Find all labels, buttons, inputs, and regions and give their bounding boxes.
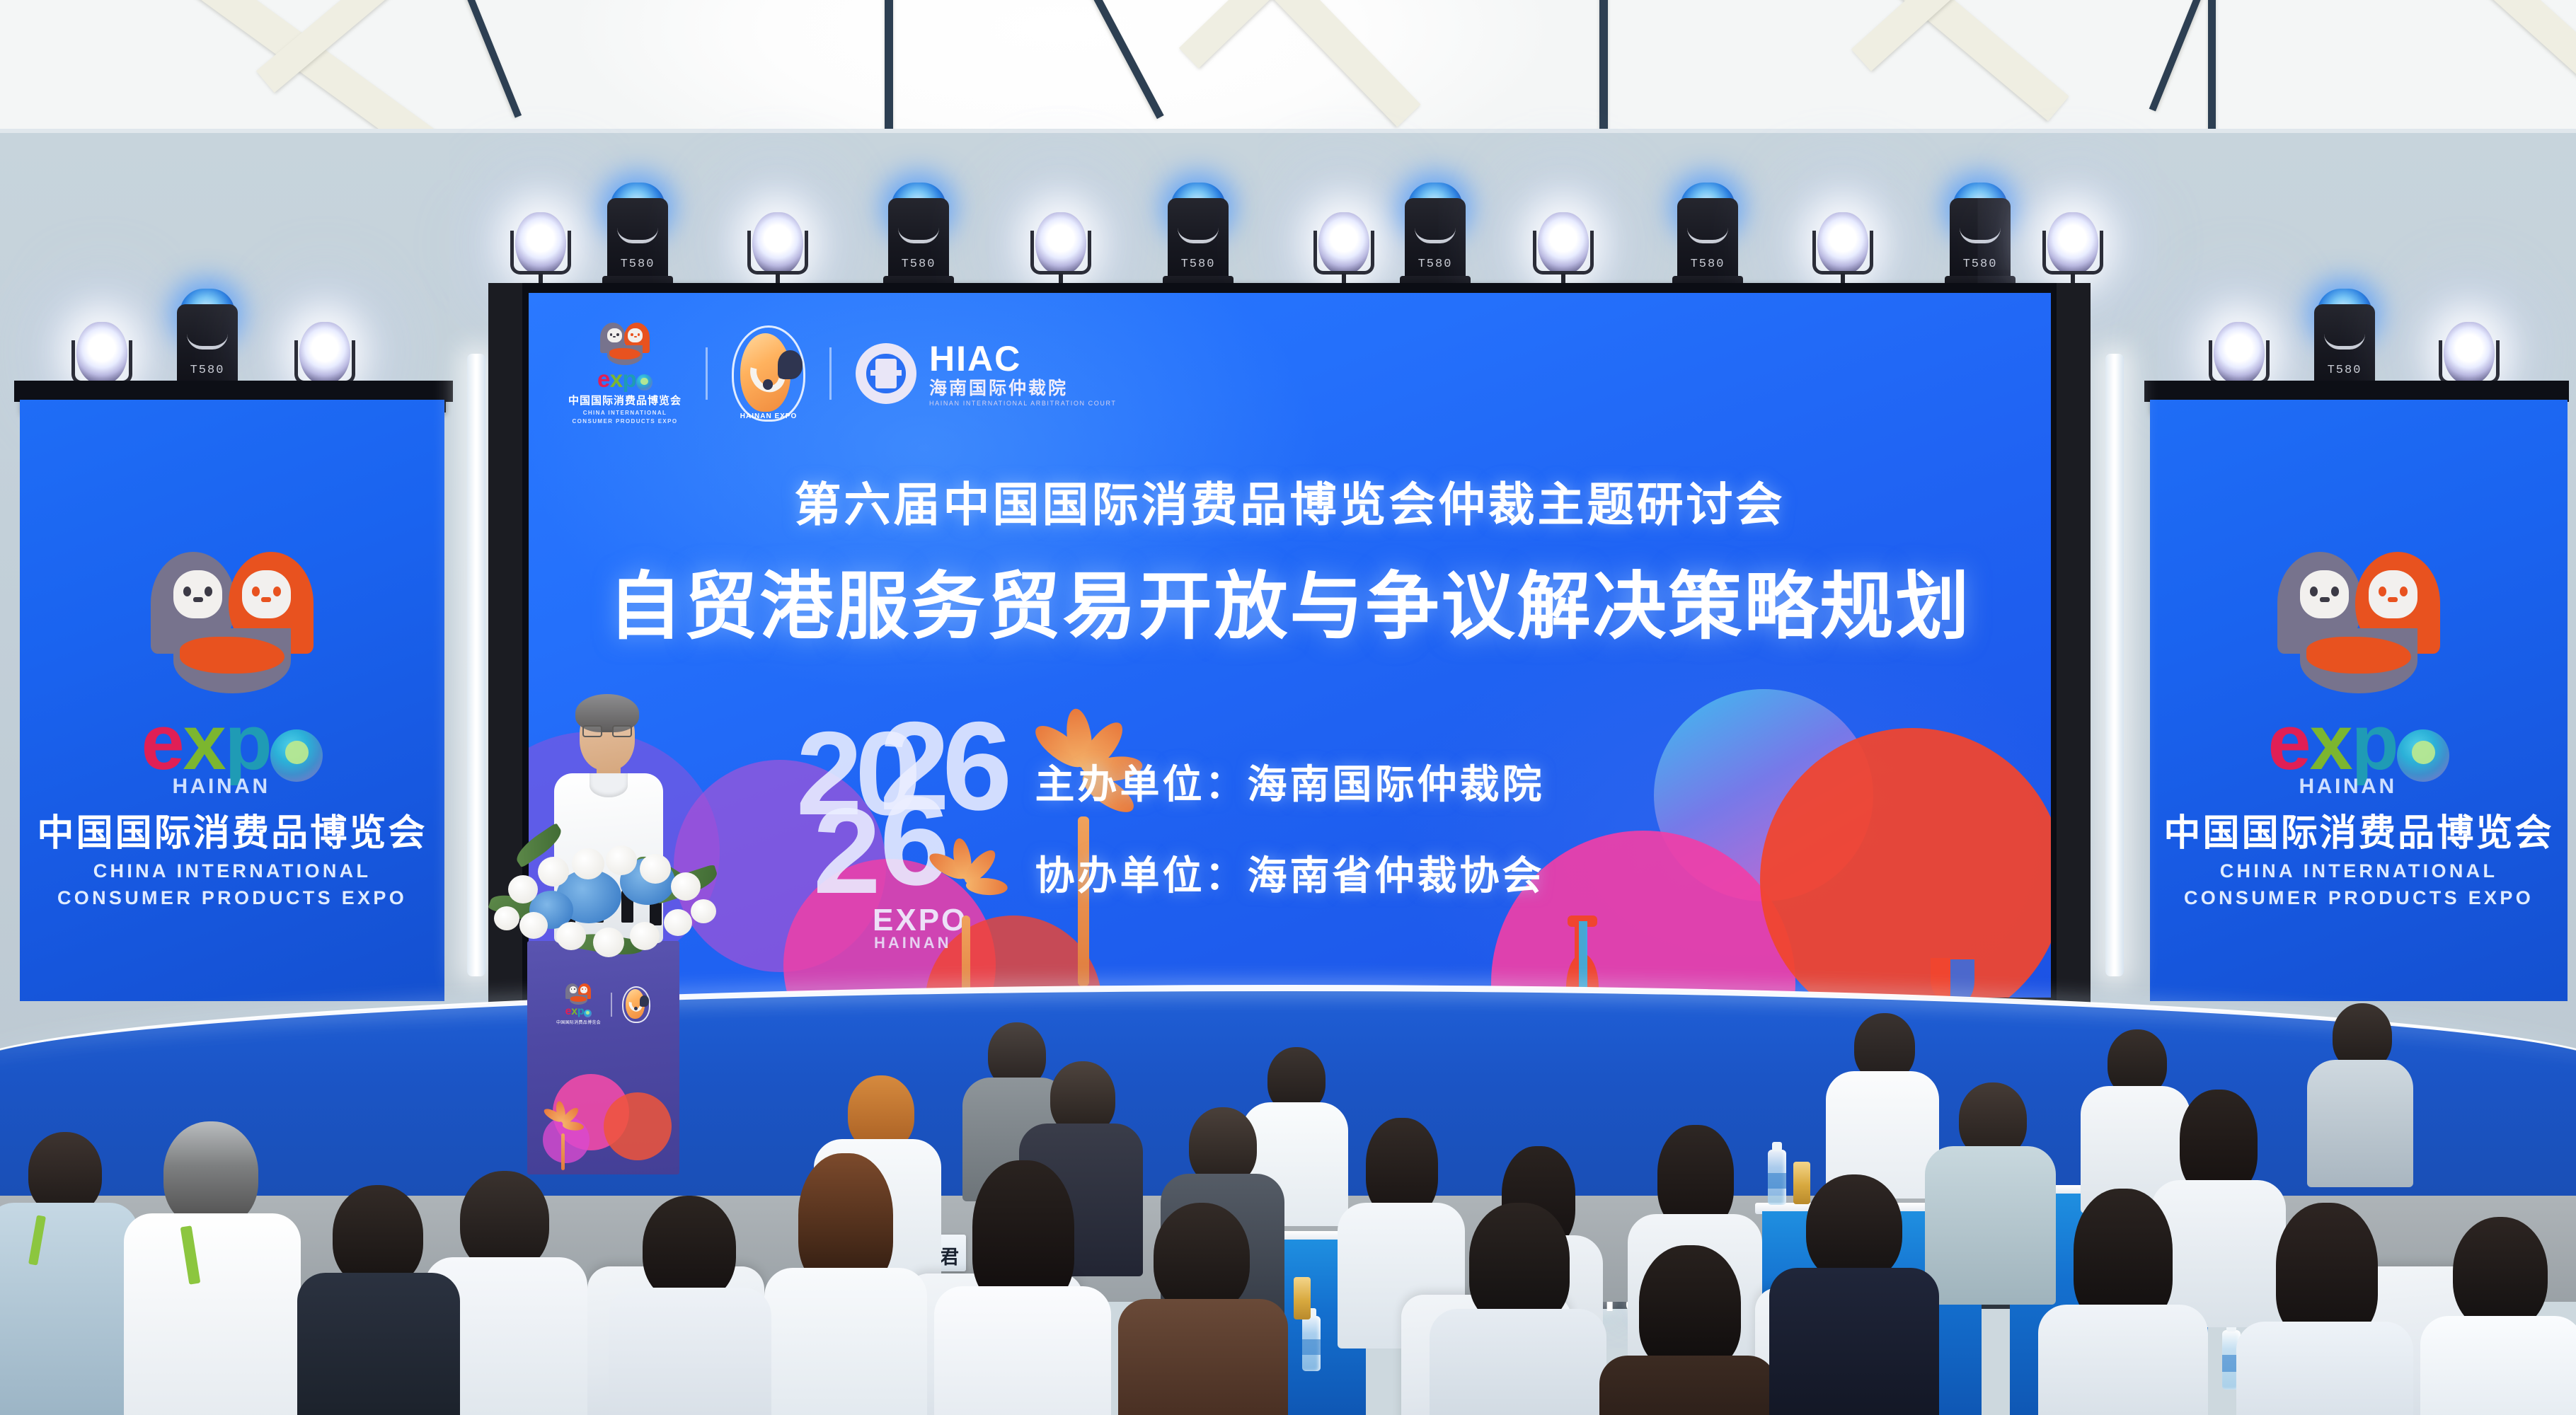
audience-torso xyxy=(2038,1305,2208,1415)
audience-member xyxy=(1118,1203,1288,1415)
audience-head xyxy=(2074,1189,2173,1323)
hainan-expo-mascot-logo: HAINAN EXPO xyxy=(732,325,805,422)
audience-member xyxy=(1430,1203,1606,1415)
audience-member xyxy=(1826,1013,1939,1190)
expo-letter-o-globe-icon xyxy=(584,1010,592,1017)
expo-letter-o-globe-icon xyxy=(2397,729,2449,782)
speaker-glasses-icon xyxy=(582,725,632,737)
left-side-banner: exp HAINAN 中国国际消费品博览会 CHINA INTERNATIONA… xyxy=(20,400,444,1001)
logo-divider xyxy=(829,347,832,400)
white-rose xyxy=(691,899,716,923)
white-rose xyxy=(556,922,586,950)
audience-member xyxy=(2236,1203,2413,1415)
white-rose xyxy=(508,875,538,903)
right-white-led-strip xyxy=(2105,354,2124,976)
white-rose xyxy=(606,845,637,875)
audience-torso xyxy=(1769,1268,1939,1415)
audience-head xyxy=(972,1160,1074,1305)
expo-monkey-heart-icon xyxy=(2277,552,2440,693)
hiac-name-cn: 海南国际仲裁院 xyxy=(929,379,1117,398)
left-banner-logo xyxy=(20,552,444,693)
podium-name-cn: 中国国际消费品博览会 xyxy=(556,1019,601,1025)
main-led-screen: 20 26 2 6 EXPO HAINAN xyxy=(529,293,2051,998)
hiac-logo: HIAC 海南国际仲裁院 HAINAN INTERNATIONAL ARBITR… xyxy=(856,340,1117,407)
expo-letter-p: p xyxy=(2351,699,2397,786)
audience-member xyxy=(1769,1174,1939,1415)
audience-head xyxy=(28,1132,102,1214)
fixture-model-label: T580 xyxy=(177,364,238,377)
audience-torso xyxy=(2236,1322,2413,1415)
audience-head xyxy=(1806,1174,1902,1282)
expo-name-cn: 中国国际消费品博览会 xyxy=(568,393,682,408)
beverage-can xyxy=(1294,1277,1311,1319)
audience-torso xyxy=(1599,1356,1776,1415)
audience-head xyxy=(1154,1203,1250,1313)
white-rose xyxy=(572,848,604,879)
ceiling-truss-beam xyxy=(1599,0,1608,141)
logo-divider xyxy=(706,347,708,400)
fixture-model-label: T580 xyxy=(607,258,668,271)
expo-letter-e: e xyxy=(142,699,183,786)
right-banner-frame xyxy=(2144,381,2569,402)
flower-arrangement xyxy=(488,838,722,973)
expo-monkey-heart-icon xyxy=(151,552,314,693)
expo-letter-p: p xyxy=(224,699,270,786)
audience-member xyxy=(2038,1189,2208,1415)
expo-name-en-2: CONSUMER PRODUCTS EXPO xyxy=(572,418,677,424)
hiac-acronym: HIAC xyxy=(929,340,1117,378)
audience-member xyxy=(0,1132,134,1415)
left-banner-name-en-1: CHINA INTERNATIONAL xyxy=(20,858,444,884)
audience-member xyxy=(764,1153,927,1415)
expo-monkey-heart-icon xyxy=(600,323,650,365)
audience-member xyxy=(2307,1003,2413,1180)
expo-hainan-label: HAINAN xyxy=(2299,776,2397,797)
white-rose xyxy=(671,872,701,901)
conference-scene: 接洽 chmak T580 T580 T580 xyxy=(0,0,2576,1415)
white-rose xyxy=(494,906,519,930)
right-banner-logo xyxy=(2150,552,2568,693)
left-banner-name-en-2: CONSUMER PRODUCTS EXPO xyxy=(20,885,444,911)
organizer-co-host: 协办单位：海南省仲裁协会 xyxy=(529,844,2051,901)
audience-member xyxy=(1599,1245,1776,1415)
expo-logo: exp 中国国际消费品博览会 CHINA INTERNATIONAL CONSU… xyxy=(568,323,682,424)
event-title: 自贸港服务贸易开放与争议解决策略规划 xyxy=(529,546,2051,653)
white-rose xyxy=(593,928,624,957)
organizers-block: 主办单位：海南国际仲裁院 协办单位：海南省仲裁协会 xyxy=(529,753,2051,935)
audience-member xyxy=(2420,1217,2576,1415)
expo-letter-e: e xyxy=(597,366,610,392)
expo-letter-x: x xyxy=(610,366,623,392)
audience-head xyxy=(1469,1203,1570,1323)
white-rose xyxy=(538,857,569,886)
expo-letter-e: e xyxy=(565,1005,572,1017)
expo-letter-e: e xyxy=(2268,699,2310,786)
speaker-collar xyxy=(590,773,628,797)
fixture-model-label: T580 xyxy=(1950,258,2011,271)
audience-member xyxy=(1925,1082,2056,1302)
audience-torso xyxy=(609,1288,771,1415)
white-rose xyxy=(630,922,660,950)
organizer-host: 主办单位：海南国际仲裁院 xyxy=(529,753,2051,810)
audience-torso xyxy=(1118,1299,1288,1415)
expo-monkey-heart-icon xyxy=(565,983,591,1005)
screen-logo-lockup: exp 中国国际消费品博览会 CHINA INTERNATIONAL CONSU… xyxy=(568,323,1117,424)
fixture-model-label: T580 xyxy=(888,258,949,271)
left-white-led-strip xyxy=(467,354,485,976)
expo-letter-x: x xyxy=(571,1005,577,1017)
audience-head xyxy=(333,1185,423,1287)
water-bottle xyxy=(1302,1316,1321,1371)
audience-head xyxy=(163,1121,258,1228)
hiac-name-en: HAINAN INTERNATIONAL ARBITRATION COURT xyxy=(929,400,1117,407)
ceiling xyxy=(0,0,2576,141)
main-led-screen-frame: 20 26 2 6 EXPO HAINAN xyxy=(520,283,2059,1005)
audience-torso xyxy=(2307,1060,2413,1187)
fixture-model-label: T580 xyxy=(1677,258,1738,271)
fixture-model-label: T580 xyxy=(1168,258,1229,271)
hiac-emblem-icon xyxy=(856,343,916,404)
audience-member xyxy=(297,1185,460,1415)
right-banner-name-en-2: CONSUMER PRODUCTS EXPO xyxy=(2150,885,2568,911)
podium-decor-blob xyxy=(604,1092,672,1160)
podium: exp 中国国际消费品博览会 xyxy=(527,941,679,1174)
right-banner-wordmark: exp HAINAN xyxy=(2150,704,2568,782)
right-banner-name-cn: 中国国际消费品博览会 xyxy=(2150,803,2568,856)
audience-head xyxy=(1366,1118,1438,1217)
right-side-banner: exp HAINAN 中国国际消费品博览会 CHINA INTERNATIONA… xyxy=(2150,400,2568,1001)
podium-palm-graphic xyxy=(544,1114,587,1170)
white-rose xyxy=(640,854,671,884)
expo-letter-p: p xyxy=(577,1005,584,1017)
left-banner-frame xyxy=(14,381,453,402)
expo-letter-p: p xyxy=(622,366,636,392)
right-banner-name-en-1: CHINA INTERNATIONAL xyxy=(2150,858,2568,884)
podium-logo-divider xyxy=(611,993,612,1017)
audience-torso xyxy=(124,1213,301,1415)
audience-head xyxy=(643,1196,736,1302)
audience-torso xyxy=(1925,1146,2056,1305)
expo-letter-x: x xyxy=(2310,699,2352,786)
wall-top-edge xyxy=(0,129,2576,133)
event-subtitle: 第六届中国国际消费品博览会仲裁主题研讨会 xyxy=(529,467,2051,535)
expo-hainan-label: HAINAN xyxy=(173,776,270,797)
ceiling-truss-beam xyxy=(2208,0,2216,141)
wine-glass-icon xyxy=(1926,958,1979,998)
white-rose xyxy=(519,912,548,939)
audience-head xyxy=(460,1171,549,1271)
left-banner-name-cn: 中国国际消费品博览会 xyxy=(20,803,444,856)
fixture-model-label: T580 xyxy=(1405,258,1466,271)
expo-letter-o-globe-icon xyxy=(270,729,323,782)
audience-head xyxy=(2276,1203,2378,1339)
audience-torso xyxy=(0,1203,138,1415)
podium-logo-lockup: exp 中国国际消费品博览会 xyxy=(527,983,679,1025)
audience-member xyxy=(124,1121,301,1415)
podium-mascot-logo xyxy=(622,986,650,1023)
audience-torso xyxy=(764,1268,927,1415)
audience-head xyxy=(1639,1245,1741,1370)
white-rose xyxy=(664,909,692,936)
audience-torso xyxy=(934,1286,1111,1415)
expo-letter-x: x xyxy=(183,699,225,786)
mascot-label: HAINAN EXPO xyxy=(732,412,805,420)
ceiling-truss-beam xyxy=(885,0,893,141)
expo-letter-o-globe-icon xyxy=(636,374,652,391)
left-banner-wordmark: exp HAINAN xyxy=(20,704,444,782)
audience-torso xyxy=(1430,1309,1606,1415)
audience-torso xyxy=(297,1273,460,1415)
audience-member xyxy=(609,1196,771,1415)
expo-name-en-1: CHINA INTERNATIONAL xyxy=(583,410,667,416)
audience-torso xyxy=(2420,1316,2576,1415)
stage-frame-right xyxy=(2057,283,2091,1005)
audience-head xyxy=(2453,1217,2548,1330)
fixture-model-label: T580 xyxy=(2314,364,2375,377)
audience-member xyxy=(934,1160,1111,1415)
